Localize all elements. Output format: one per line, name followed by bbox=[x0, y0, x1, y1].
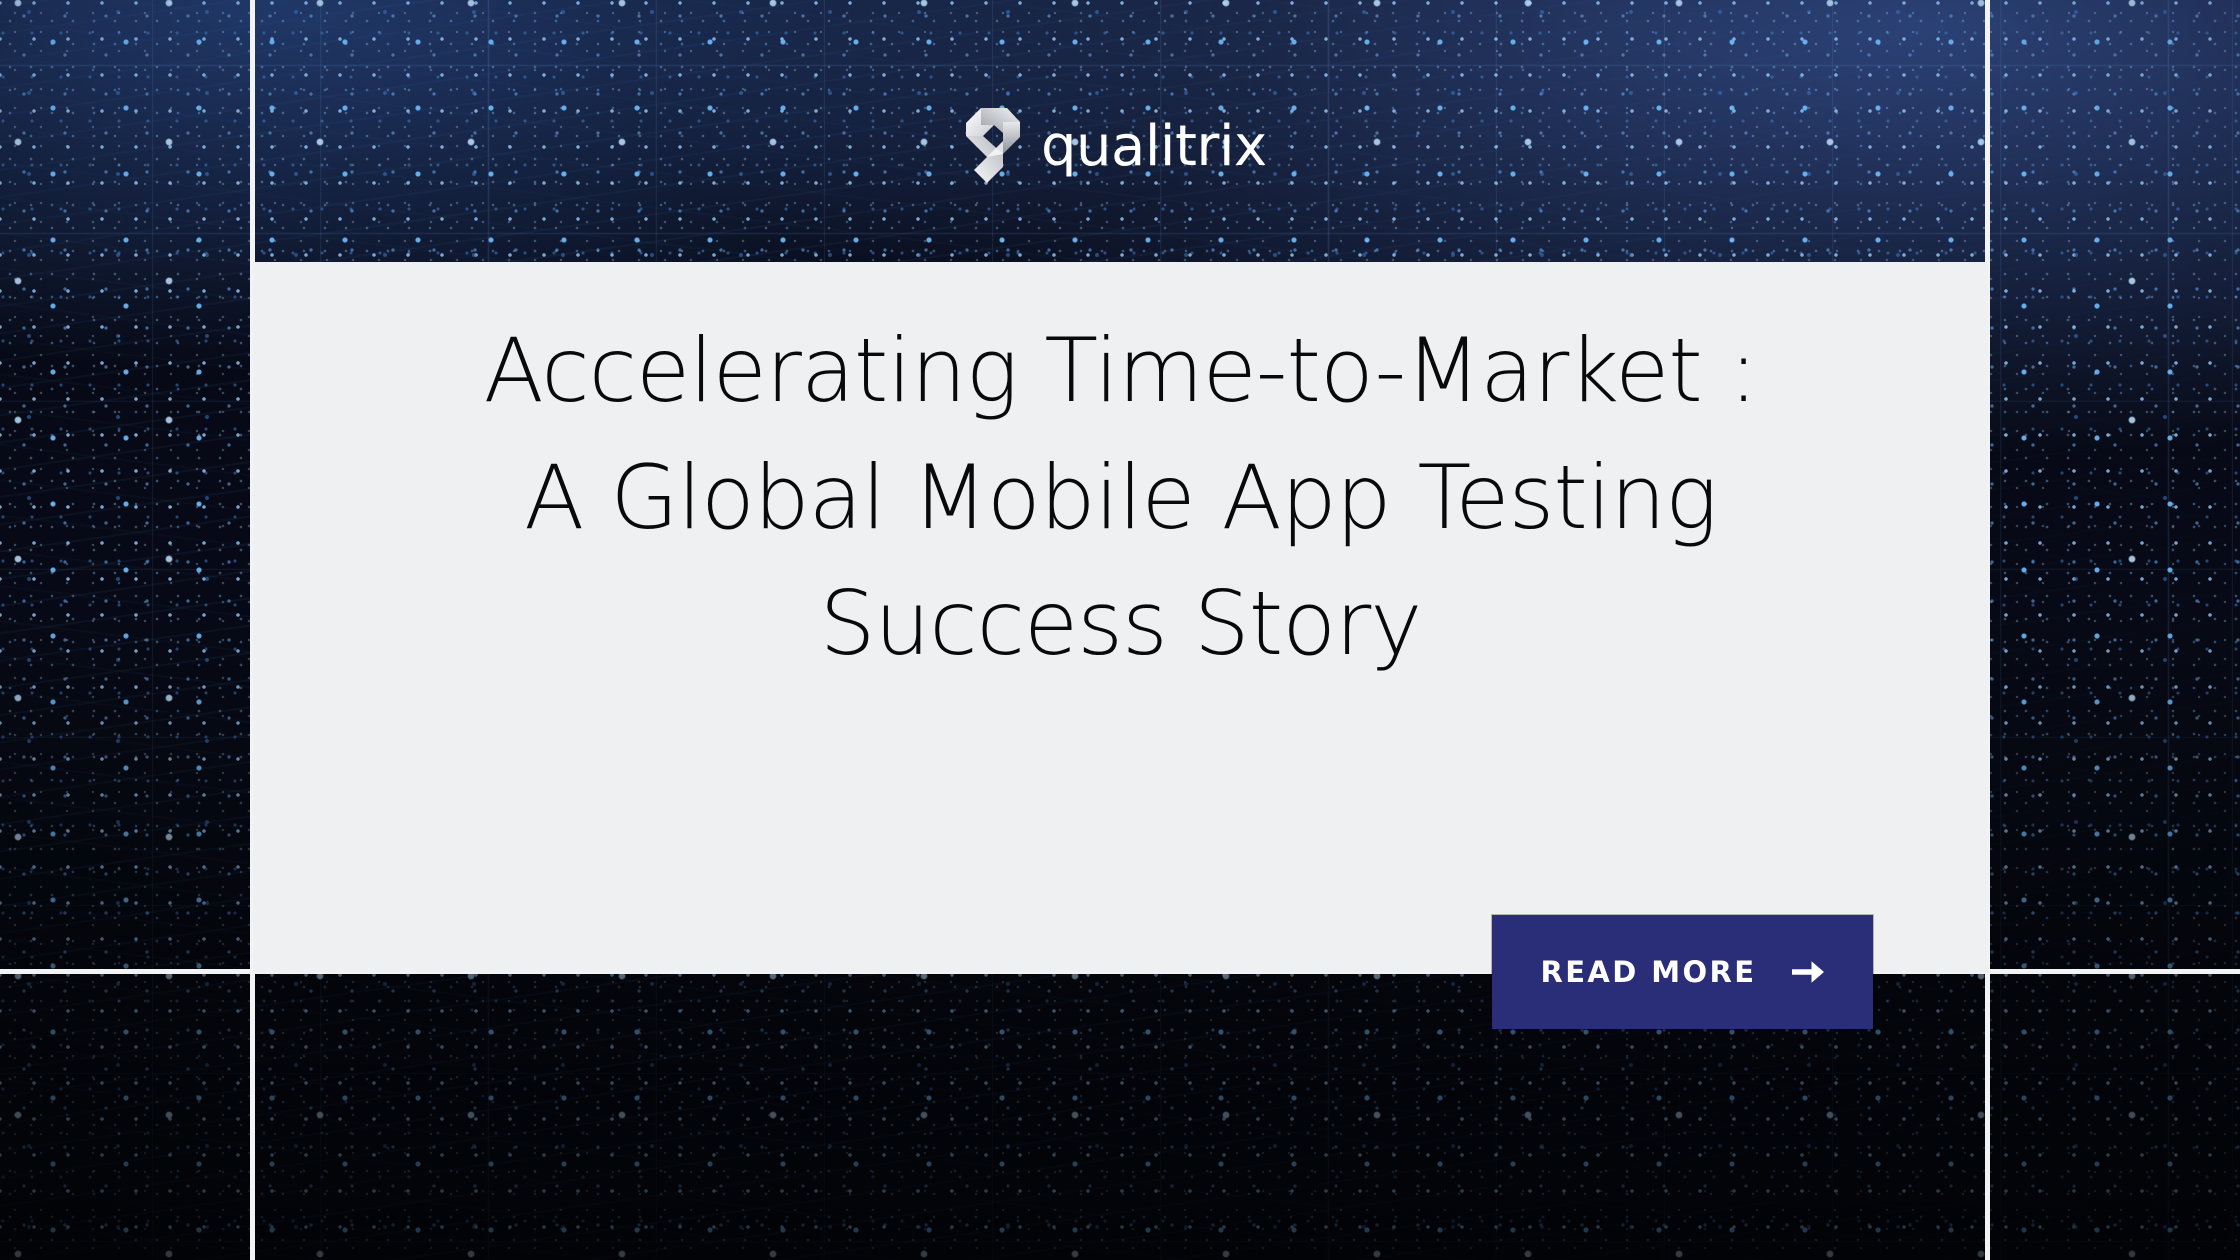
title-line-3: Success Story bbox=[293, 561, 1948, 688]
brand-logo[interactable]: qualitrix bbox=[963, 103, 1267, 183]
arrow-right-icon bbox=[1791, 958, 1825, 986]
read-more-label: READ MORE bbox=[1540, 958, 1756, 987]
page-title: Accelerating Time-to-Market : A Global M… bbox=[253, 308, 1988, 688]
title-line-1: Accelerating Time-to-Market : bbox=[293, 308, 1948, 435]
brand-name: qualitrix bbox=[1041, 119, 1267, 175]
diamond-pin-logo-icon bbox=[963, 103, 1025, 183]
title-line-2: A Global Mobile App Testing bbox=[293, 435, 1948, 562]
content-card: Accelerating Time-to-Market : A Global M… bbox=[253, 262, 1988, 972]
read-more-button[interactable]: READ MORE bbox=[1492, 915, 1873, 1029]
poster-canvas: qualitrix Accelerating Time-to-Market : … bbox=[0, 0, 2240, 1260]
